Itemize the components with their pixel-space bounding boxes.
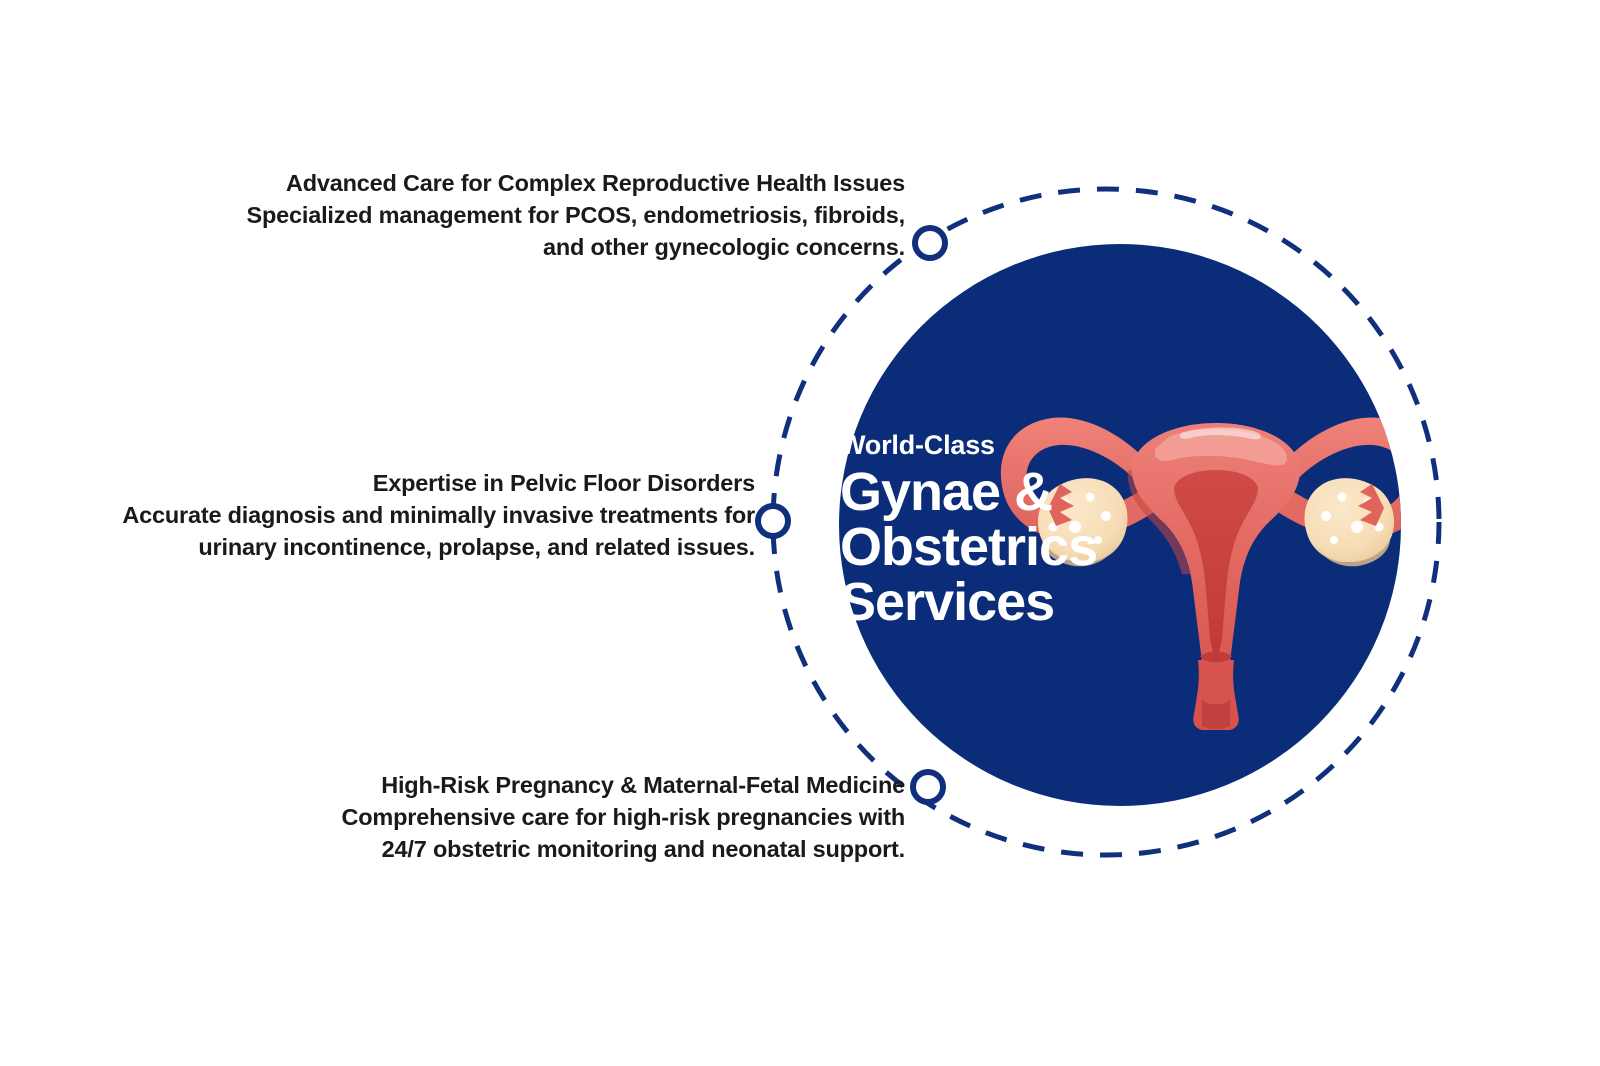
callout-1-title: Advanced Care for Complex Reproductive H…: [205, 168, 905, 200]
callout-marker-2[interactable]: [758, 506, 788, 536]
callout-2-line-1: Accurate diagnosis and minimally invasiv…: [65, 500, 755, 532]
callout-block-2: Expertise in Pelvic Floor Disorders Accu…: [65, 468, 755, 564]
callout-block-1: Advanced Care for Complex Reproductive H…: [205, 168, 905, 264]
callout-marker-1[interactable]: [915, 228, 945, 258]
callout-3-line-2: 24/7 obstetric monitoring and neonatal s…: [205, 834, 905, 866]
callout-block-3: High-Risk Pregnancy & Maternal-Fetal Med…: [205, 770, 905, 866]
callout-marker-3[interactable]: [913, 772, 943, 802]
callout-1-line-1: Specialized management for PCOS, endomet…: [205, 200, 905, 232]
callout-3-title: High-Risk Pregnancy & Maternal-Fetal Med…: [205, 770, 905, 802]
callout-2-title: Expertise in Pelvic Floor Disorders: [65, 468, 755, 500]
infographic-canvas: World-Class Gynae & Obstetrics Services …: [0, 0, 1600, 1066]
callout-2-line-2: urinary incontinence, prolapse, and rela…: [65, 532, 755, 564]
callout-1-line-2: and other gynecologic concerns.: [205, 232, 905, 264]
callout-3-line-1: Comprehensive care for high-risk pregnan…: [205, 802, 905, 834]
